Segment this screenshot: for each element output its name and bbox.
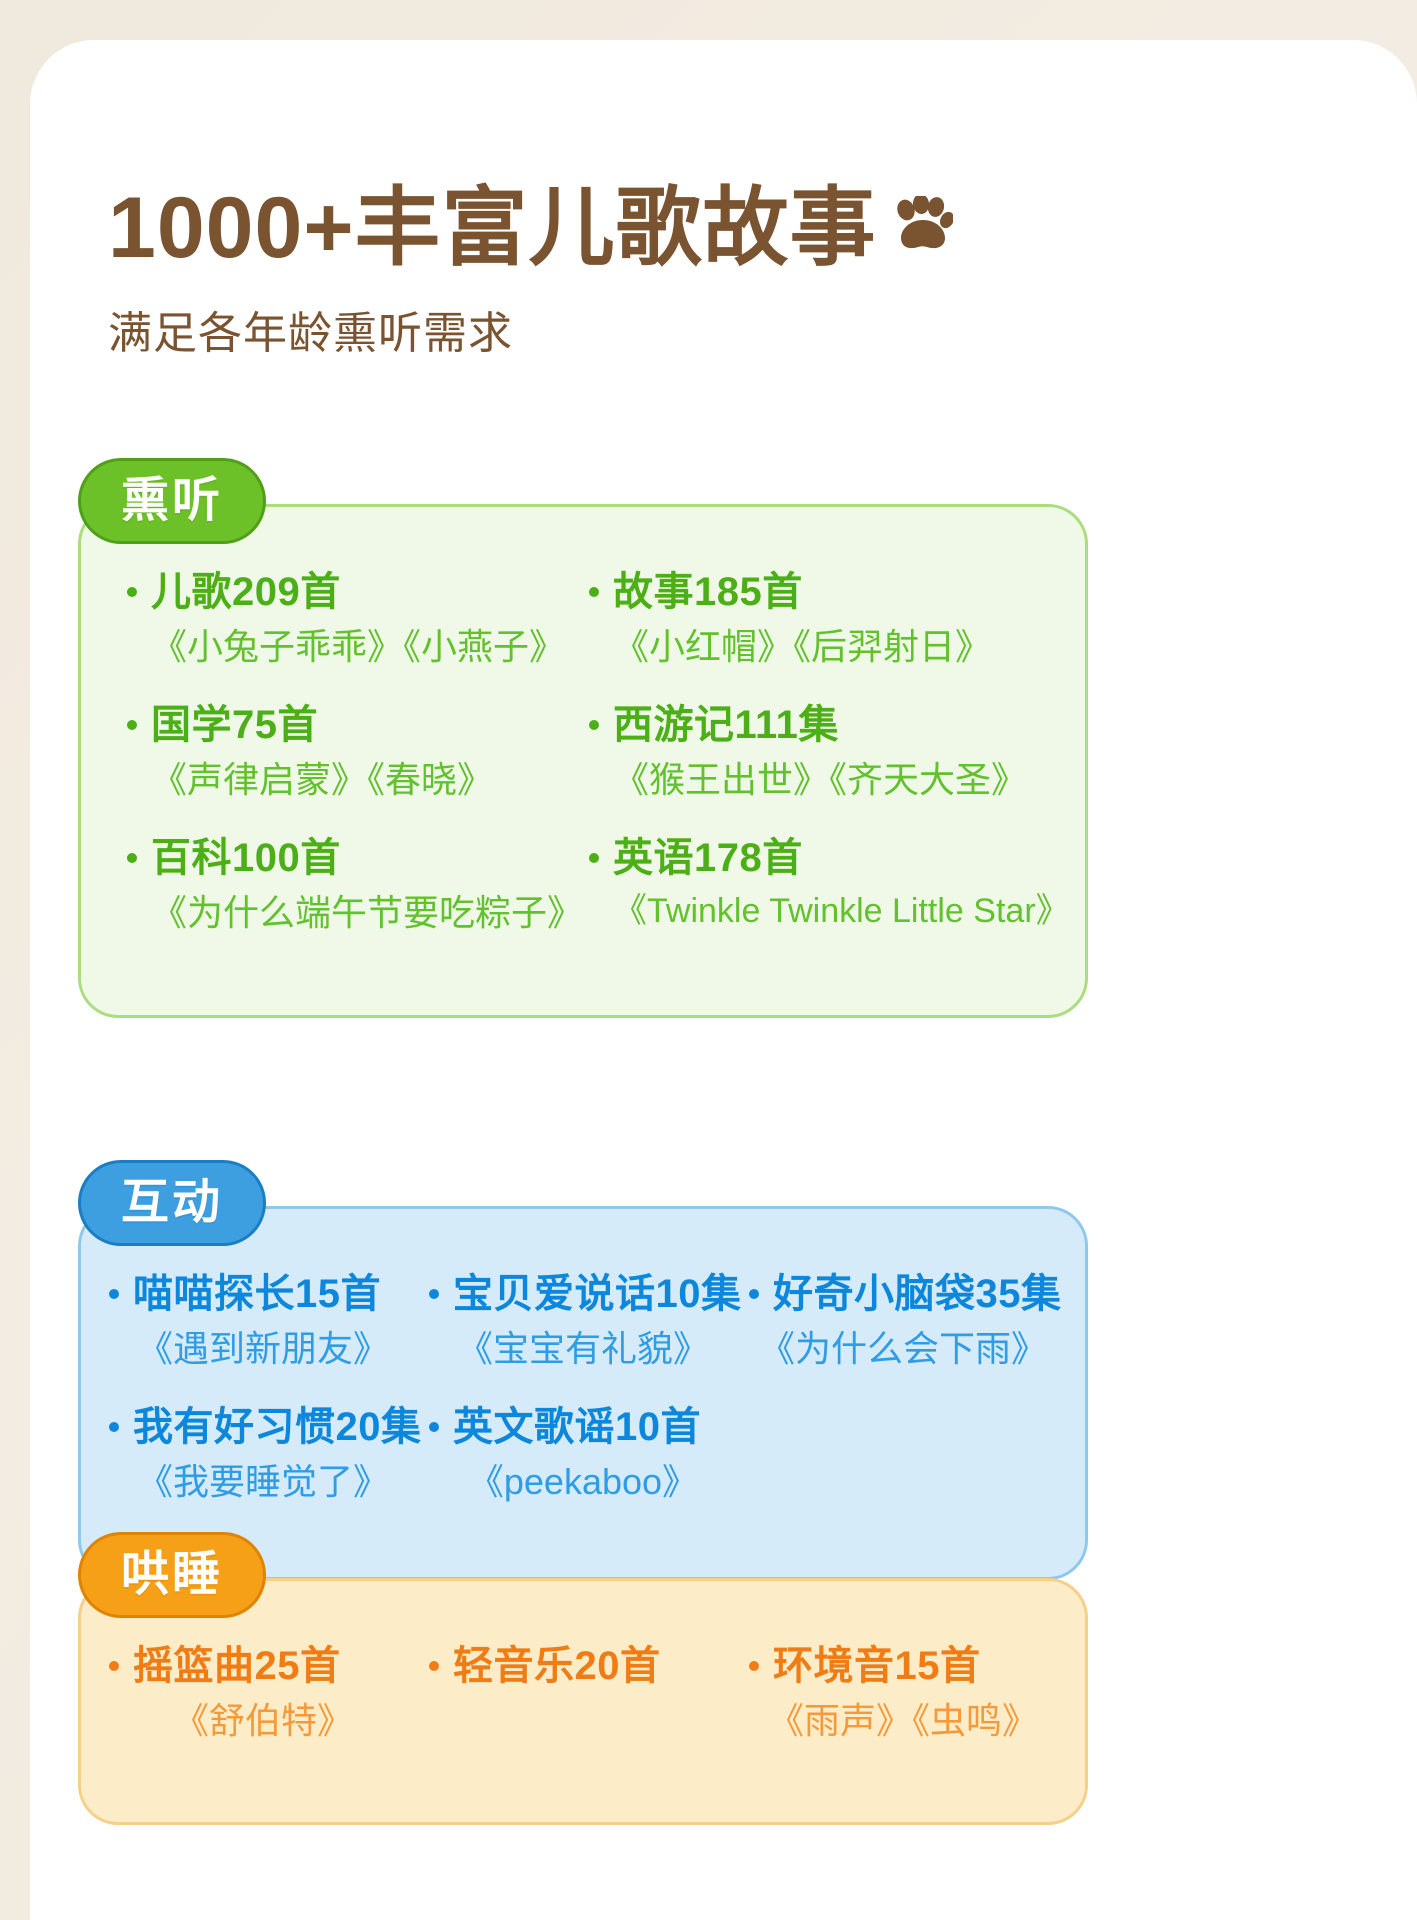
list-item[interactable]: 我有好习惯20集 《我要睡觉了》 [103, 1404, 423, 1503]
title-row: 1000+丰富儿歌故事 [108, 185, 1108, 271]
list-item[interactable]: 英文歌谣10首 《peekaboo》 [423, 1404, 743, 1503]
item-row: 喵喵探长15首 《遇到新朋友》 宝贝爱说话10集 《宝宝有礼貌》 [103, 1271, 1063, 1404]
bullet-icon [589, 720, 599, 730]
page-title: 1000+丰富儿歌故事 [108, 185, 877, 271]
poster-content: 1000+丰富儿歌故事 满足各年龄熏听需求 熏听 [0, 0, 1417, 1920]
bullet-icon [109, 1289, 119, 1299]
item-title: 喵喵探长15首 [133, 1271, 381, 1317]
bullet-icon [429, 1661, 439, 1671]
item-row: 国学75首 《声律启蒙》《春晓》 西游记111集 《猴王出世》《齐天大圣》 [121, 702, 1045, 835]
section-card-xunting: 儿歌209首 《小兔子乖乖》《小燕子》 故事185首 《小红帽》《后羿射日》 [78, 504, 1088, 1018]
item-subtitle: 《小兔子乖乖》《小燕子》 [127, 625, 577, 668]
item-title: 我有好习惯20集 [133, 1404, 422, 1450]
header: 1000+丰富儿歌故事 满足各年龄熏听需求 [108, 185, 1108, 361]
list-item[interactable]: 环境音15首 《雨声》《虫鸣》 [743, 1643, 1063, 1742]
item-title: 摇篮曲25首 [133, 1643, 341, 1689]
section-badge-label: 互动 [121, 1179, 223, 1227]
section-badge-label: 熏听 [121, 477, 223, 525]
section-badge-hudong[interactable]: 互动 [78, 1160, 266, 1246]
item-head: 百科100首 [127, 835, 577, 881]
item-head: 西游记111集 [589, 702, 1039, 748]
item-head: 故事185首 [589, 569, 1039, 615]
bullet-icon [429, 1289, 439, 1299]
card-inner: 喵喵探长15首 《遇到新朋友》 宝贝爱说话10集 《宝宝有礼貌》 [81, 1209, 1085, 1577]
paw-print-icon [893, 196, 953, 252]
item-subtitle: 《宝宝有礼貌》 [429, 1327, 737, 1370]
bullet-icon [589, 853, 599, 863]
bullet-icon [749, 1661, 759, 1671]
item-head: 英文歌谣10首 [429, 1404, 737, 1450]
item-title: 好奇小脑袋35集 [773, 1271, 1062, 1317]
card-inner: 儿歌209首 《小兔子乖乖》《小燕子》 故事185首 《小红帽》《后羿射日》 [81, 507, 1085, 1015]
list-item[interactable]: 儿歌209首 《小兔子乖乖》《小燕子》 [121, 569, 583, 668]
item-title: 轻音乐20首 [453, 1643, 661, 1689]
item-subtitle: 《为什么端午节要吃粽子》 [127, 891, 577, 934]
bullet-icon [589, 587, 599, 597]
list-item[interactable]: 喵喵探长15首 《遇到新朋友》 [103, 1271, 423, 1370]
item-row: 儿歌209首 《小兔子乖乖》《小燕子》 故事185首 《小红帽》《后羿射日》 [121, 569, 1045, 702]
bullet-icon [127, 720, 137, 730]
section-badge-xunting[interactable]: 熏听 [78, 458, 266, 544]
list-item[interactable]: 西游记111集 《猴王出世》《齐天大圣》 [583, 702, 1045, 801]
poster-root: 1000+丰富儿歌故事 满足各年龄熏听需求 熏听 [0, 0, 1417, 1920]
item-title: 故事185首 [613, 569, 803, 615]
item-head: 喵喵探长15首 [109, 1271, 417, 1317]
list-item[interactable]: 摇篮曲25首 《舒伯特》 [103, 1643, 423, 1742]
item-subtitle: 《我要睡觉了》 [109, 1460, 417, 1503]
bullet-icon [109, 1661, 119, 1671]
list-item[interactable]: 宝贝爱说话10集 《宝宝有礼貌》 [423, 1271, 743, 1370]
item-row: 摇篮曲25首 《舒伯特》 轻音乐20首 [103, 1643, 1063, 1776]
item-subtitle: 《遇到新朋友》 [109, 1327, 417, 1370]
item-head: 英语178首 [589, 835, 1039, 881]
bullet-icon [109, 1422, 119, 1432]
page-subtitle: 满足各年龄熏听需求 [108, 297, 1108, 361]
item-subtitle: 《peekaboo》 [429, 1460, 737, 1503]
item-subtitle: 《Twinkle Twinkle Little Star》 [589, 891, 1039, 932]
bullet-icon [429, 1422, 439, 1432]
item-subtitle: 《声律启蒙》《春晓》 [127, 758, 577, 801]
card-inner: 摇篮曲25首 《舒伯特》 轻音乐20首 [81, 1581, 1085, 1822]
list-item[interactable]: 轻音乐20首 [423, 1643, 743, 1742]
item-title: 英文歌谣10首 [453, 1404, 701, 1450]
item-subtitle: 《雨声》《虫鸣》 [749, 1699, 1057, 1742]
section-card-hudong: 喵喵探长15首 《遇到新朋友》 宝贝爱说话10集 《宝宝有礼貌》 [78, 1206, 1088, 1580]
item-title: 西游记111集 [613, 702, 839, 748]
list-item[interactable]: 好奇小脑袋35集 《为什么会下雨》 [743, 1271, 1063, 1370]
bullet-icon [127, 587, 137, 597]
item-head: 轻音乐20首 [429, 1643, 737, 1689]
item-subtitle: 《小红帽》《后羿射日》 [589, 625, 1039, 668]
bullet-icon [127, 853, 137, 863]
item-title: 儿歌209首 [151, 569, 341, 615]
section-badge-label: 哄睡 [121, 1551, 223, 1599]
item-head: 好奇小脑袋35集 [749, 1271, 1057, 1317]
item-head: 国学75首 [127, 702, 577, 748]
item-title: 国学75首 [151, 702, 318, 748]
item-title: 英语178首 [613, 835, 803, 881]
item-head: 摇篮曲25首 [109, 1643, 417, 1689]
item-row: 我有好习惯20集 《我要睡觉了》 英文歌谣10首 《peekaboo》 [103, 1404, 1063, 1537]
item-head: 环境音15首 [749, 1643, 1057, 1689]
bullet-icon [749, 1289, 759, 1299]
item-row: 百科100首 《为什么端午节要吃粽子》 英语178首 《Twinkle Twin… [121, 835, 1045, 968]
section-badge-hongshui[interactable]: 哄睡 [78, 1532, 266, 1618]
item-subtitle: 《舒伯特》 [109, 1699, 417, 1742]
list-item[interactable]: 英语178首 《Twinkle Twinkle Little Star》 [583, 835, 1045, 934]
item-subtitle: 《猴王出世》《齐天大圣》 [589, 758, 1039, 801]
list-item[interactable]: 国学75首 《声律启蒙》《春晓》 [121, 702, 583, 801]
item-head: 宝贝爱说话10集 [429, 1271, 737, 1317]
list-item[interactable]: 故事185首 《小红帽》《后羿射日》 [583, 569, 1045, 668]
item-title: 环境音15首 [773, 1643, 981, 1689]
list-item[interactable]: 百科100首 《为什么端午节要吃粽子》 [121, 835, 583, 934]
item-head: 儿歌209首 [127, 569, 577, 615]
item-head: 我有好习惯20集 [109, 1404, 417, 1450]
item-title: 百科100首 [151, 835, 341, 881]
item-subtitle: 《为什么会下雨》 [749, 1327, 1057, 1370]
item-title: 宝贝爱说话10集 [453, 1271, 742, 1317]
